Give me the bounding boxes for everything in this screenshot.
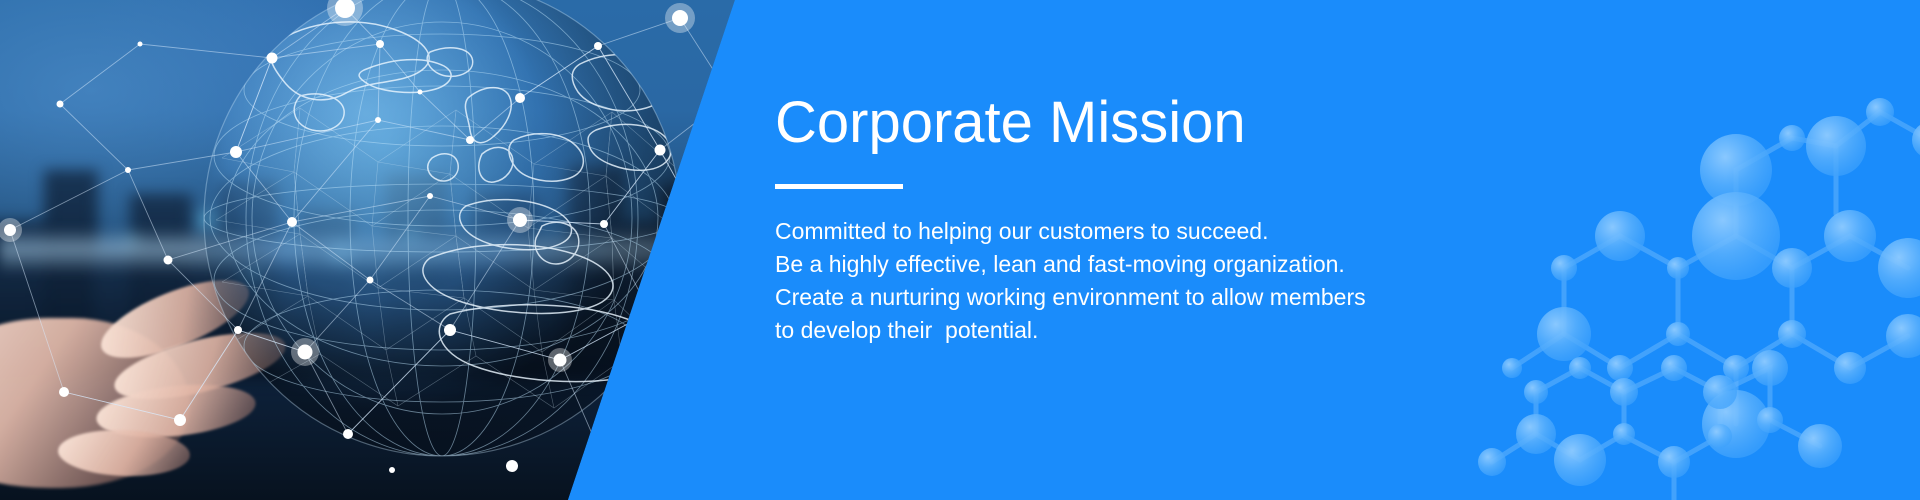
mission-line-2: Be a highly effective, lean and fast-mov… xyxy=(775,248,1775,281)
mission-statement: Committed to helping our customers to su… xyxy=(775,215,1775,347)
mission-line-3: Create a nurturing working environment t… xyxy=(775,281,1775,314)
title-underline-rule xyxy=(775,184,903,189)
page-title: Corporate Mission xyxy=(775,92,1775,155)
mission-content: Corporate Mission Committed to helping o… xyxy=(775,92,1775,347)
corporate-mission-banner: Corporate Mission Committed to helping o… xyxy=(0,0,1920,500)
mission-line-4: to develop their potential. xyxy=(775,314,1775,347)
mission-line-1: Committed to helping our customers to su… xyxy=(775,215,1775,248)
